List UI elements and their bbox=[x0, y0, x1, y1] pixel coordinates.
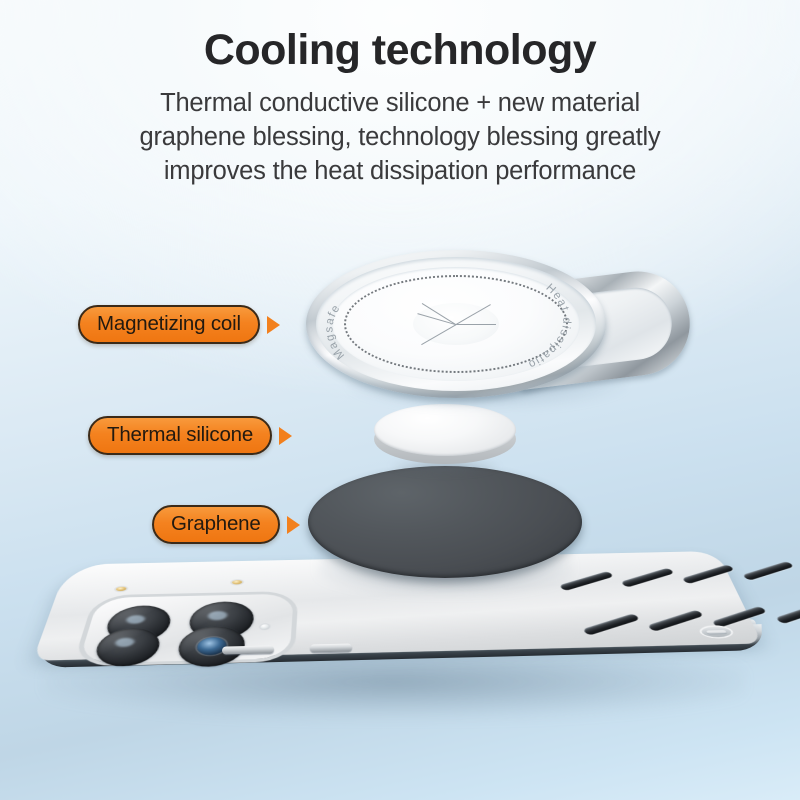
side-button-power[interactable] bbox=[310, 643, 352, 652]
heat-vent-slot bbox=[681, 564, 735, 584]
heat-vent-slot bbox=[620, 568, 674, 588]
case-screw-right bbox=[232, 580, 243, 584]
lens-glint-icon bbox=[208, 611, 228, 620]
callout-label[interactable]: Graphene bbox=[152, 505, 280, 544]
subtitle-line-3: improves the heat dissipation performanc… bbox=[0, 155, 800, 189]
lens-glint-icon bbox=[125, 615, 146, 624]
case-screw-left bbox=[115, 587, 126, 591]
speaker-port bbox=[697, 625, 736, 639]
side-button-volume[interactable] bbox=[222, 645, 274, 654]
thermal-silicone-puck bbox=[374, 404, 516, 470]
header: Cooling technology Thermal conductive si… bbox=[0, 0, 800, 189]
lens-glint-icon bbox=[114, 638, 135, 647]
subtitle-line-1: Thermal conductive silicone + new materi… bbox=[0, 87, 800, 121]
callout-pointer-icon bbox=[279, 427, 292, 445]
callout-label[interactable]: Magnetizing coil bbox=[78, 305, 260, 344]
callout-magnetizing-coil[interactable]: Magnetizing coil bbox=[78, 305, 280, 344]
case-drop-shadow bbox=[44, 658, 744, 718]
magsafe-disc: Magsafe Heat dissipation case bbox=[306, 250, 606, 398]
heat-vent-slot bbox=[582, 613, 640, 636]
port-slot-icon bbox=[706, 630, 727, 633]
callout-pointer-icon bbox=[267, 316, 280, 334]
page-title: Cooling technology bbox=[0, 28, 800, 73]
engraving-magsafe: Magsafe bbox=[323, 302, 347, 361]
camera-lens-3 bbox=[91, 628, 163, 667]
graphene-disc bbox=[308, 466, 582, 588]
callout-pointer-icon bbox=[287, 516, 300, 534]
callout-thermal-silicone[interactable]: Thermal silicone bbox=[88, 416, 292, 455]
heat-vent-slot bbox=[775, 602, 800, 624]
graphene-disc-surface bbox=[308, 466, 582, 578]
magnetic-ring-holder: Magsafe Heat dissipation case bbox=[298, 248, 698, 413]
page-subtitle: Thermal conductive silicone + new materi… bbox=[0, 87, 800, 189]
heat-vent-slot bbox=[647, 610, 704, 632]
callout-label[interactable]: Thermal silicone bbox=[88, 416, 272, 455]
callout-graphene[interactable]: Graphene bbox=[152, 505, 300, 544]
subtitle-line-2: graphene blessing, technology blessing g… bbox=[0, 121, 800, 155]
heat-vent-slot bbox=[742, 561, 795, 581]
camera-flash-icon bbox=[260, 624, 269, 629]
disc-engraving: Magsafe Heat dissipation case bbox=[306, 250, 606, 398]
